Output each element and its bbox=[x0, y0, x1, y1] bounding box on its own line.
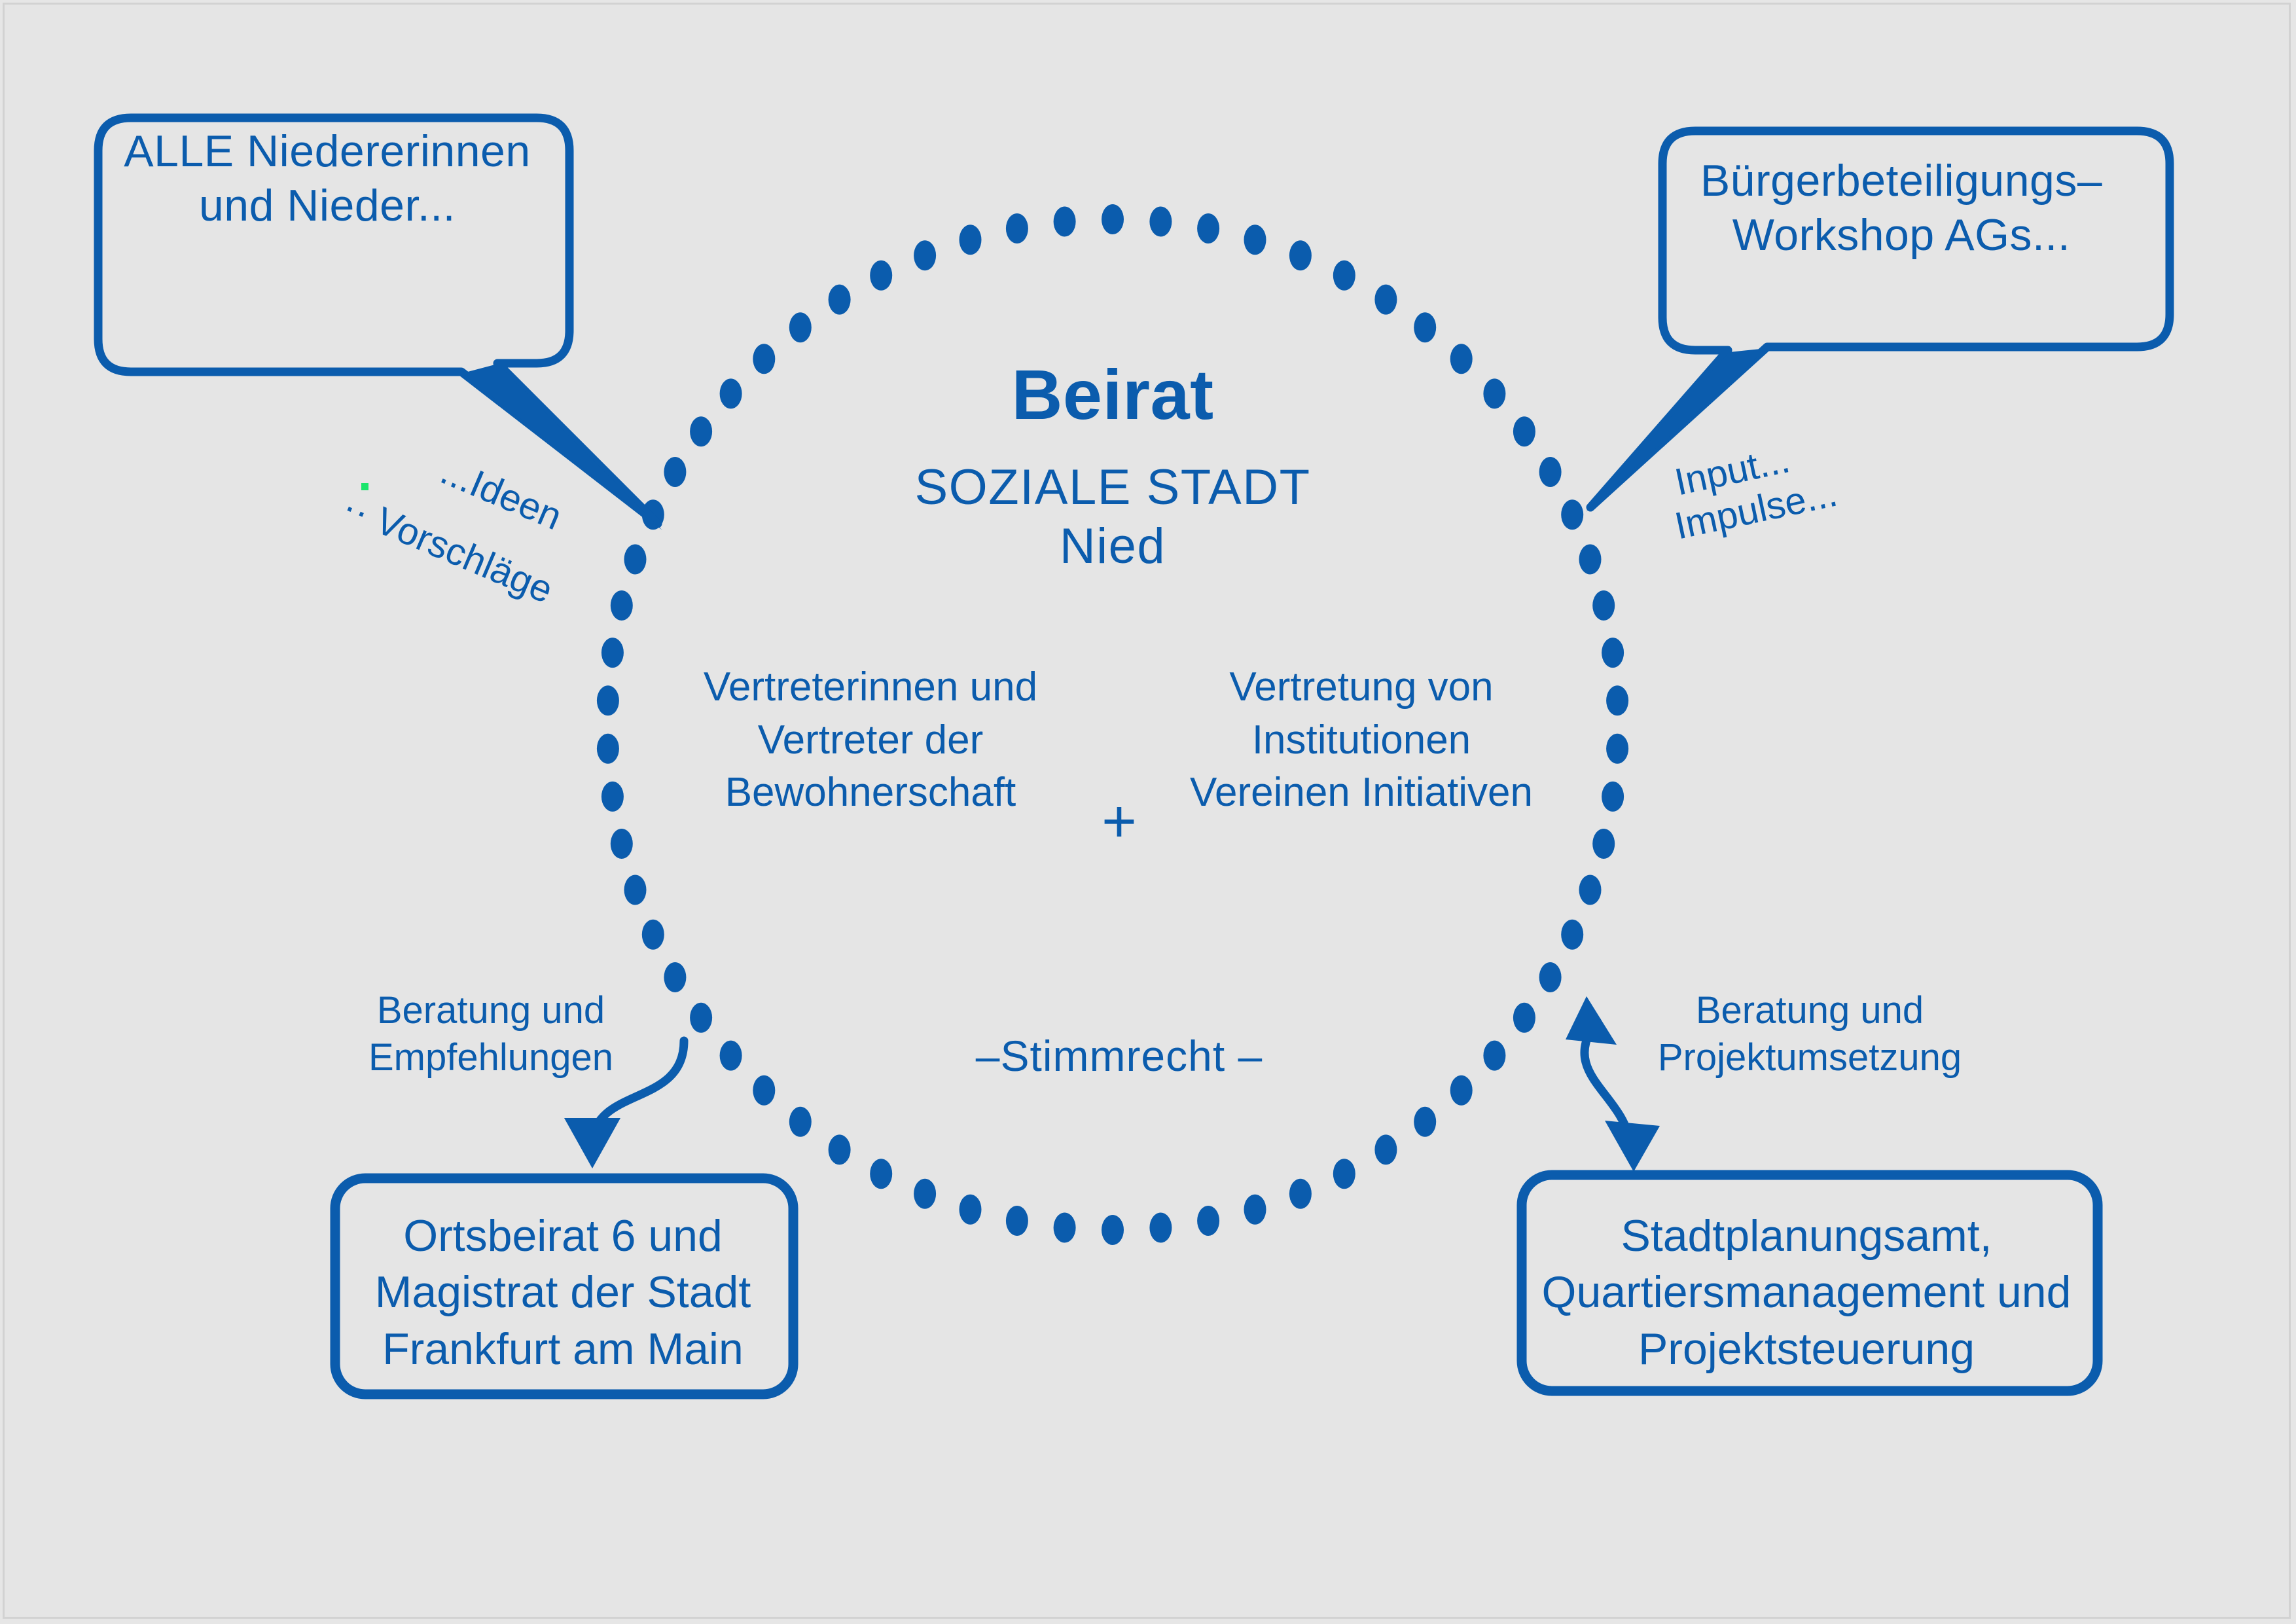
circle-dot bbox=[829, 285, 851, 315]
circle-dot bbox=[789, 312, 812, 342]
circle-dot bbox=[1450, 1075, 1473, 1106]
circle-dot bbox=[1374, 285, 1397, 315]
circle-dot bbox=[1289, 1179, 1312, 1209]
beirat-subtitle-line1: SOZIALE STADT bbox=[818, 458, 1407, 517]
beirat-subtitle: SOZIALE STADT Nied bbox=[818, 458, 1407, 575]
circle-dot bbox=[960, 1195, 982, 1225]
circle-dot bbox=[1483, 378, 1505, 408]
circle-dot bbox=[1561, 499, 1583, 530]
circle-dot bbox=[1006, 213, 1028, 244]
box-stadtplanungsamt-text: Stadtplanungsamt, Quartiersmanagement un… bbox=[1518, 1208, 2094, 1377]
circle-dot bbox=[1592, 829, 1615, 859]
circle-dot bbox=[1539, 962, 1562, 992]
circle-dot bbox=[1244, 225, 1266, 255]
label-beratung-empfehlungen: Beratung und Empfehlungen bbox=[340, 987, 641, 1081]
circle-dot bbox=[1414, 312, 1436, 342]
circle-dot bbox=[1102, 204, 1124, 234]
circle-dot bbox=[1197, 1206, 1219, 1236]
circle-dot bbox=[1539, 457, 1562, 487]
circle-dot bbox=[597, 685, 619, 715]
circle-dot bbox=[1054, 1213, 1076, 1243]
circle-dot bbox=[789, 1107, 812, 1137]
bubble-top-right-text: Bürgerbeteiligungs– Workshop AGs... bbox=[1672, 154, 2130, 262]
column-bewohnerschaft: Vertreterinnen und Vertreter der Bewohne… bbox=[694, 661, 1047, 820]
circle-dot bbox=[642, 920, 664, 950]
circle-dot bbox=[1579, 545, 1602, 575]
circle-dot bbox=[664, 457, 686, 487]
circle-dot bbox=[1579, 875, 1602, 905]
circle-dot bbox=[1602, 782, 1624, 812]
circle-dot bbox=[690, 1003, 712, 1033]
beirat-title: Beirat bbox=[818, 353, 1407, 435]
circle-dot bbox=[720, 1041, 742, 1071]
circle-dot bbox=[1602, 638, 1624, 668]
circle-dot bbox=[1149, 1213, 1172, 1243]
circle-dot bbox=[597, 734, 619, 764]
circle-dot bbox=[753, 344, 775, 374]
circle-dot bbox=[1333, 1159, 1355, 1189]
circle-dot bbox=[829, 1134, 851, 1164]
circle-dot bbox=[1513, 1003, 1535, 1033]
circle-dot bbox=[960, 225, 982, 255]
circle-dot bbox=[1592, 590, 1615, 621]
circle-dot bbox=[1333, 261, 1355, 291]
circle-dot bbox=[611, 829, 633, 859]
circle-dot bbox=[1606, 734, 1628, 764]
circle-dot bbox=[1561, 920, 1583, 950]
bubble-top-left-text: ALLE Niedererinnen und Nieder... bbox=[98, 124, 556, 233]
circle-dot bbox=[753, 1075, 775, 1106]
circle-dot bbox=[624, 875, 647, 905]
circle-dot bbox=[1006, 1206, 1028, 1236]
stimmrecht-label: –Stimmrecht – bbox=[916, 1031, 1322, 1081]
circle-dot bbox=[870, 261, 892, 291]
circle-dot bbox=[1244, 1195, 1266, 1225]
circle-dot bbox=[1374, 1134, 1397, 1164]
circle-dot bbox=[601, 782, 624, 812]
circle-dot bbox=[914, 240, 936, 270]
circle-dot bbox=[601, 638, 624, 668]
circle-dot bbox=[664, 962, 686, 992]
circle-dot bbox=[690, 416, 712, 446]
circle-dot bbox=[1289, 240, 1312, 270]
circle-dot bbox=[1450, 344, 1473, 374]
circle-dot bbox=[914, 1179, 936, 1209]
green-marker-dot bbox=[361, 483, 368, 490]
circle-dot bbox=[1102, 1215, 1124, 1245]
circle-dot bbox=[1483, 1041, 1505, 1071]
diagram-canvas: ALLE Niedererinnen und Nieder... Bürgerb… bbox=[0, 0, 2296, 1624]
circle-dot bbox=[624, 545, 647, 575]
circle-dot bbox=[1513, 416, 1535, 446]
circle-dot bbox=[1054, 207, 1076, 237]
beirat-subtitle-line2: Nied bbox=[818, 517, 1407, 576]
plus-icon: + bbox=[1067, 769, 1172, 874]
label-beratung-projektumsetzung: Beratung und Projektumsetzung bbox=[1640, 987, 1980, 1081]
circle-dot bbox=[720, 378, 742, 408]
circle-dot bbox=[611, 590, 633, 621]
circle-dot bbox=[1197, 213, 1219, 244]
circle-dot bbox=[1606, 685, 1628, 715]
circle-dot bbox=[870, 1159, 892, 1189]
column-institutionen: Vertretung von Institutionen Vereinen In… bbox=[1185, 661, 1538, 820]
circle-dot bbox=[1414, 1107, 1436, 1137]
circle-dot bbox=[1149, 207, 1172, 237]
box-ortsbeirat-text: Ortsbeirat 6 und Magistrat der Stadt Fra… bbox=[331, 1208, 795, 1377]
